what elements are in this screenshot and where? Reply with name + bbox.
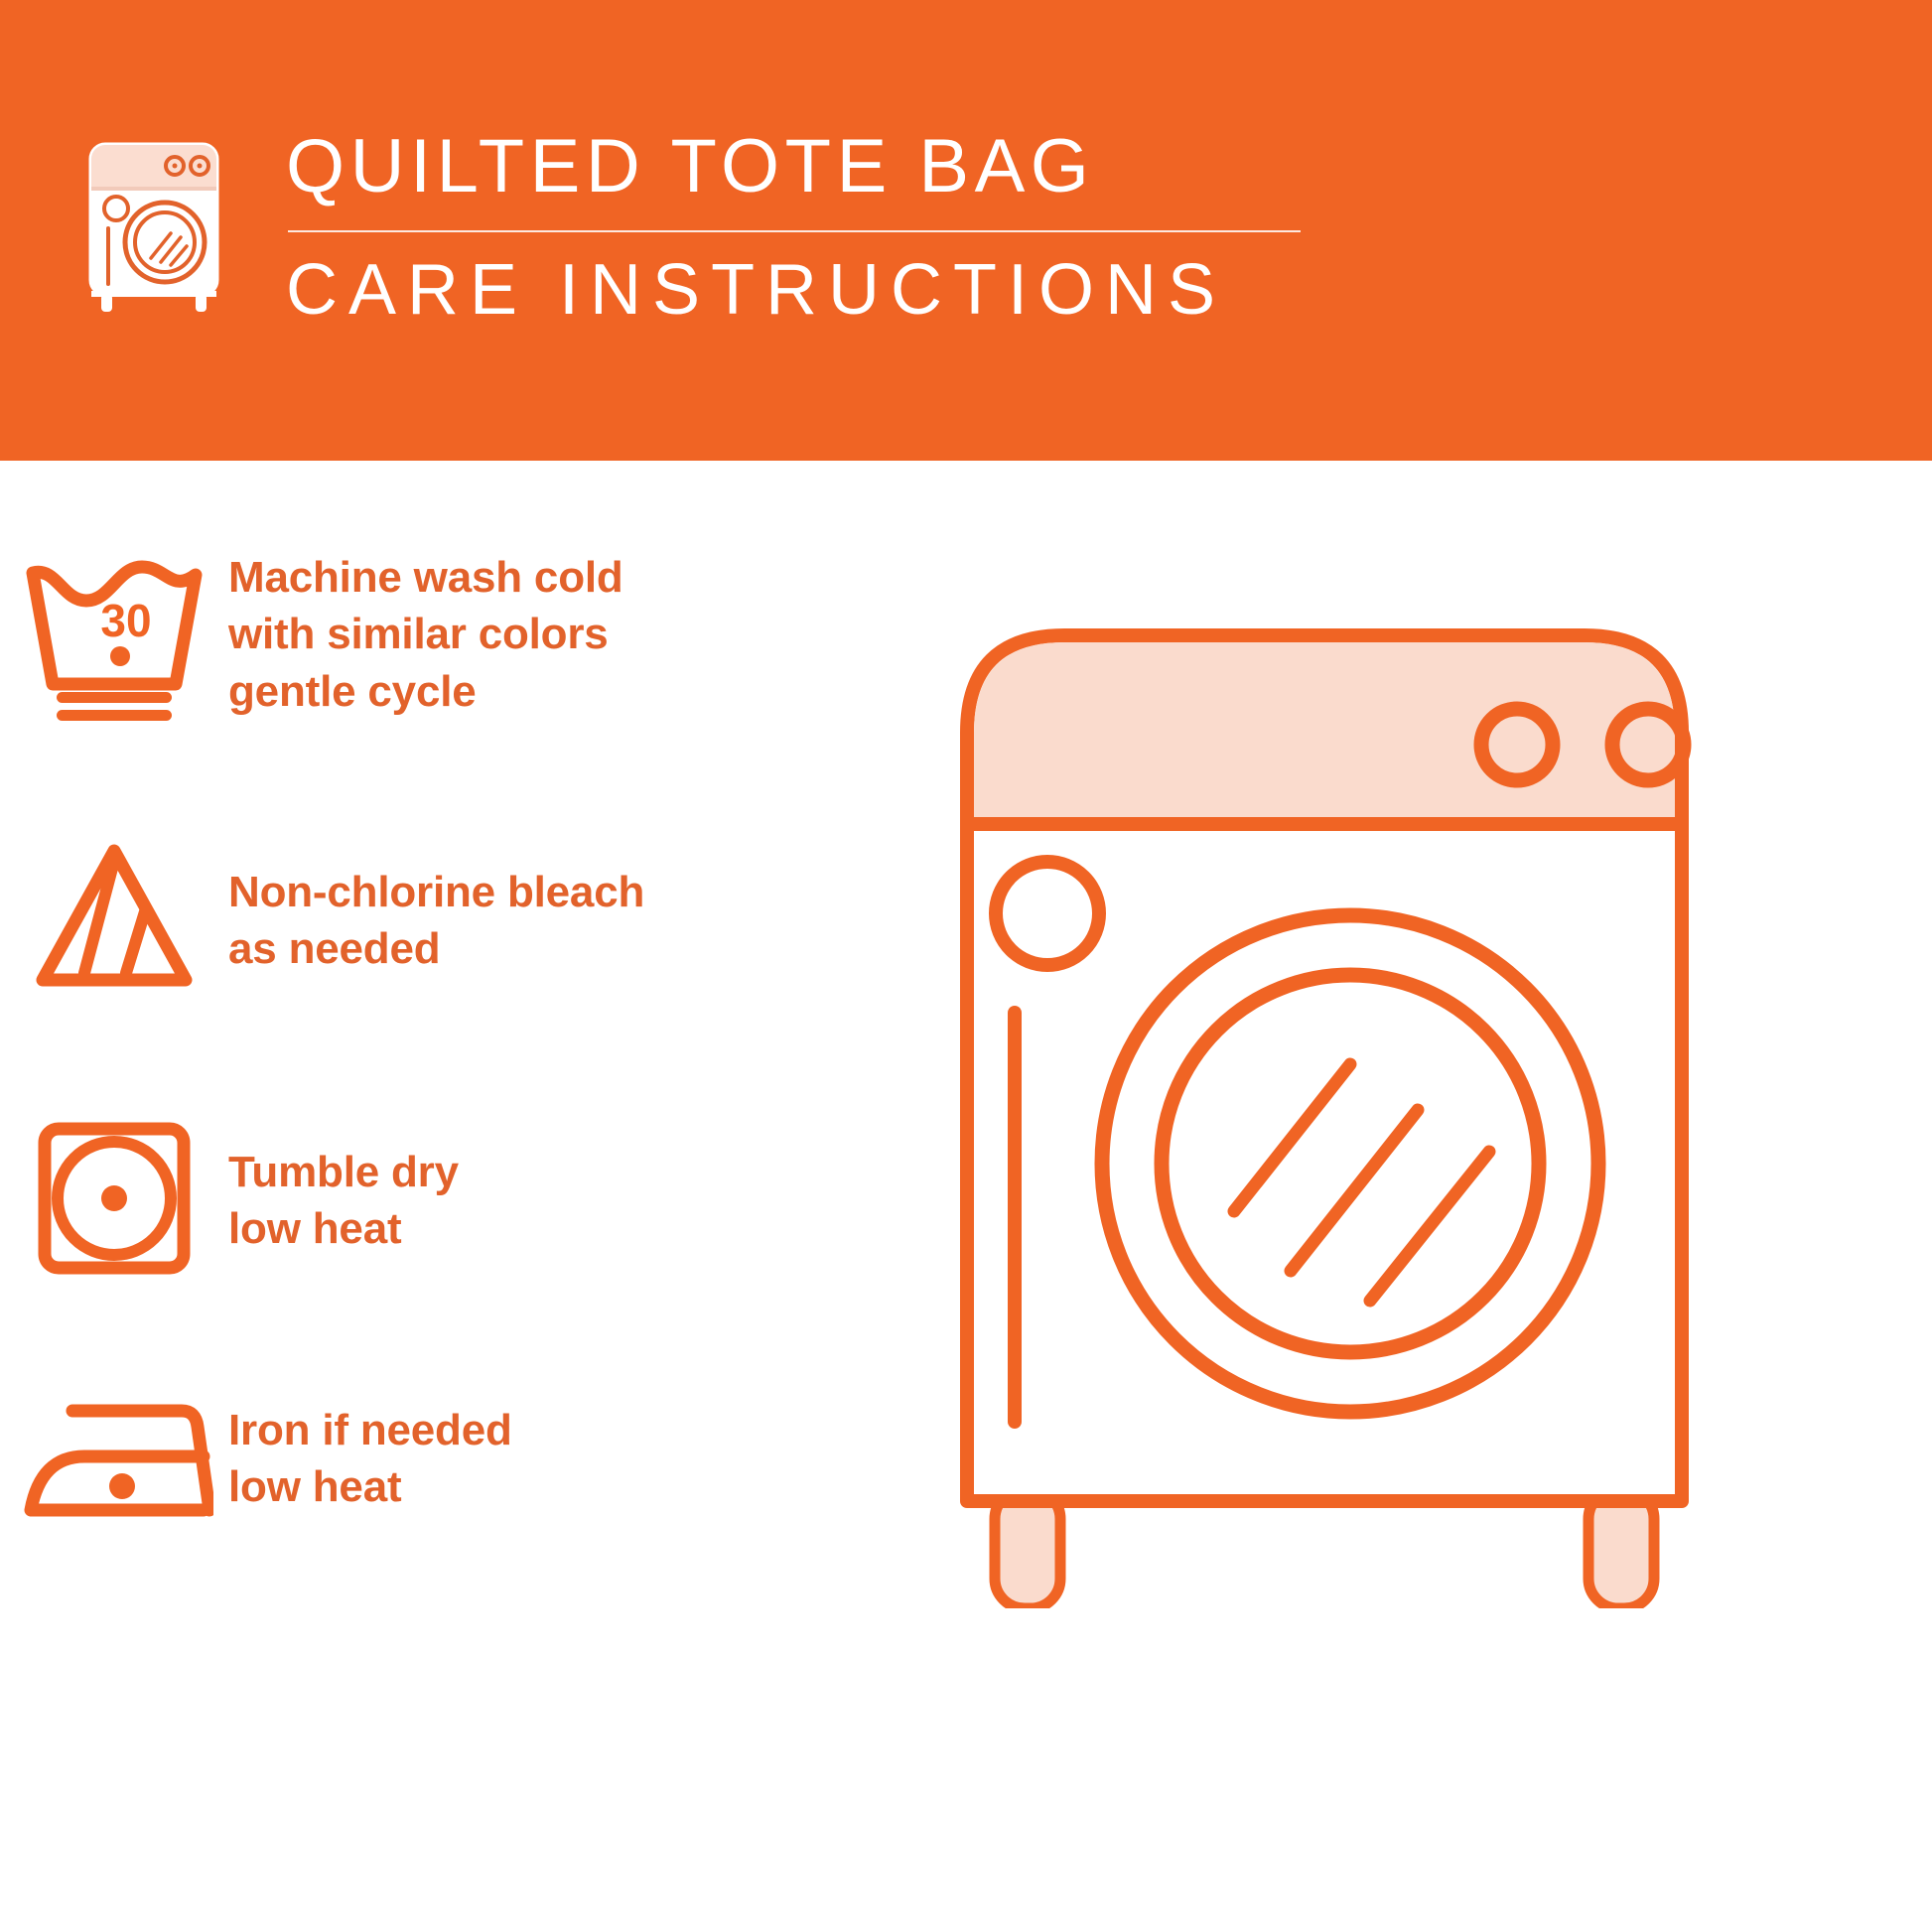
care-row-iron: Iron if needed low heat xyxy=(0,1344,933,1573)
care-line: with similar colors xyxy=(228,606,933,662)
care-line: Tumble dry xyxy=(228,1144,933,1200)
washing-machine-icon xyxy=(77,137,236,316)
care-line: gentle cycle xyxy=(228,663,933,720)
iron-low-heat-icon xyxy=(0,1369,228,1548)
care-line: Machine wash cold xyxy=(228,549,933,606)
care-label-machine-wash: Machine wash cold with similar colors ge… xyxy=(228,549,933,720)
care-line: low heat xyxy=(228,1200,933,1257)
care-instructions-page: QUILTED TOTE BAG CARE INSTRUCTIONS 30 xyxy=(0,0,1932,1932)
care-label-bleach: Non-chlorine bleach as needed xyxy=(228,864,933,977)
care-label-iron: Iron if needed low heat xyxy=(228,1402,933,1515)
care-instruction-list: 30 Machine wash cold with similar colors… xyxy=(0,461,933,1932)
washing-machine-illustration xyxy=(953,616,1866,1608)
care-row-bleach: Non-chlorine bleach as needed xyxy=(0,806,933,1035)
care-label-tumble-dry: Tumble dry low heat xyxy=(228,1144,933,1257)
tumble-dry-low-heat-icon xyxy=(0,1111,228,1290)
care-row-machine-wash: 30 Machine wash cold with similar colors… xyxy=(0,520,933,749)
care-line: as needed xyxy=(228,920,933,977)
page-subtitle: CARE INSTRUCTIONS xyxy=(286,254,1328,326)
title-divider xyxy=(288,230,1301,232)
non-chlorine-bleach-triangle-icon xyxy=(0,831,228,1010)
care-row-tumble-dry: Tumble dry low heat xyxy=(0,1086,933,1314)
wash-temperature-label: 30 xyxy=(100,595,151,646)
page-title: QUILTED TOTE BAG xyxy=(286,129,1328,205)
care-line: low heat xyxy=(228,1458,933,1515)
care-line: Iron if needed xyxy=(228,1402,933,1458)
header-text-block: QUILTED TOTE BAG CARE INSTRUCTIONS xyxy=(286,129,1328,326)
header-banner: QUILTED TOTE BAG CARE INSTRUCTIONS xyxy=(0,0,1932,461)
care-line: Non-chlorine bleach xyxy=(228,864,933,920)
wash-tub-30-gentle-icon: 30 xyxy=(0,545,228,724)
machine-control-panel xyxy=(974,642,1675,824)
